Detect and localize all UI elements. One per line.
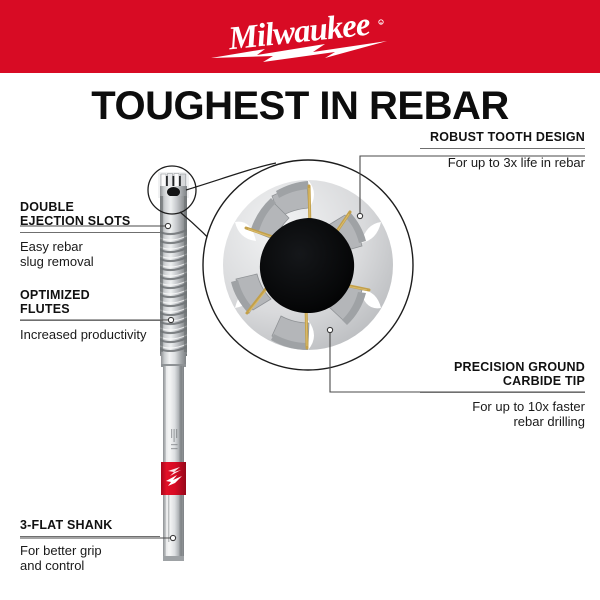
callout-title-line1: DOUBLE [20,200,160,214]
callout-body: For up to 10x faster rebar drilling [420,399,585,429]
callout-body-line2: slug removal [20,254,160,269]
callout-rule [420,392,585,393]
bit-crown-photo [223,180,393,350]
callout-rule [20,320,160,321]
callout-rule [20,232,160,233]
callout-rule [20,536,160,537]
callout-body: Easy rebar slug removal [20,239,160,269]
callout-body-line1: For up to 10x faster [420,399,585,414]
callout-title-line1: OPTIMIZED [20,288,160,302]
callout-title: DOUBLE EJECTION SLOTS [20,200,160,228]
callout-3-flat-shank: 3-FLAT SHANK For better grip and control [20,518,160,573]
callout-body-line2: and control [20,558,160,573]
callout-double-ejection-slots: DOUBLE EJECTION SLOTS Easy rebar slug re… [20,200,160,269]
infographic-canvas: Milwaukee R TOUGHEST IN REBAR [0,0,600,600]
callout-body-line2: rebar drilling [420,414,585,429]
callout-body: Increased productivity [20,327,160,342]
callout-title-line2: FLUTES [20,302,160,316]
callout-title: OPTIMIZED FLUTES [20,288,160,316]
callout-robust-tooth-design: ROBUST TOOTH DESIGN For up to 3x life in… [420,130,585,170]
callout-body: For up to 3x life in rebar [420,155,585,170]
callout-title-line2: EJECTION SLOTS [20,214,160,228]
callout-body-line1: Easy rebar [20,239,160,254]
callout-precision-ground-carbide-tip: PRECISION GROUND CARBIDE TIP For up to 1… [420,360,585,429]
callout-rule [420,148,585,149]
callout-title-line1: PRECISION GROUND [420,360,585,374]
callout-body-line1: For better grip [20,543,160,558]
callout-title: PRECISION GROUND CARBIDE TIP [420,360,585,388]
callout-optimized-flutes: OPTIMIZED FLUTES Increased productivity [20,288,160,342]
callout-body-line1: Increased productivity [20,327,160,342]
callout-title-line2: CARBIDE TIP [420,374,585,388]
callout-body: For better grip and control [20,543,160,573]
callout-title-line1: 3-FLAT SHANK [20,518,160,532]
callout-title: 3-FLAT SHANK [20,518,160,532]
callout-title: ROBUST TOOTH DESIGN [420,130,585,144]
